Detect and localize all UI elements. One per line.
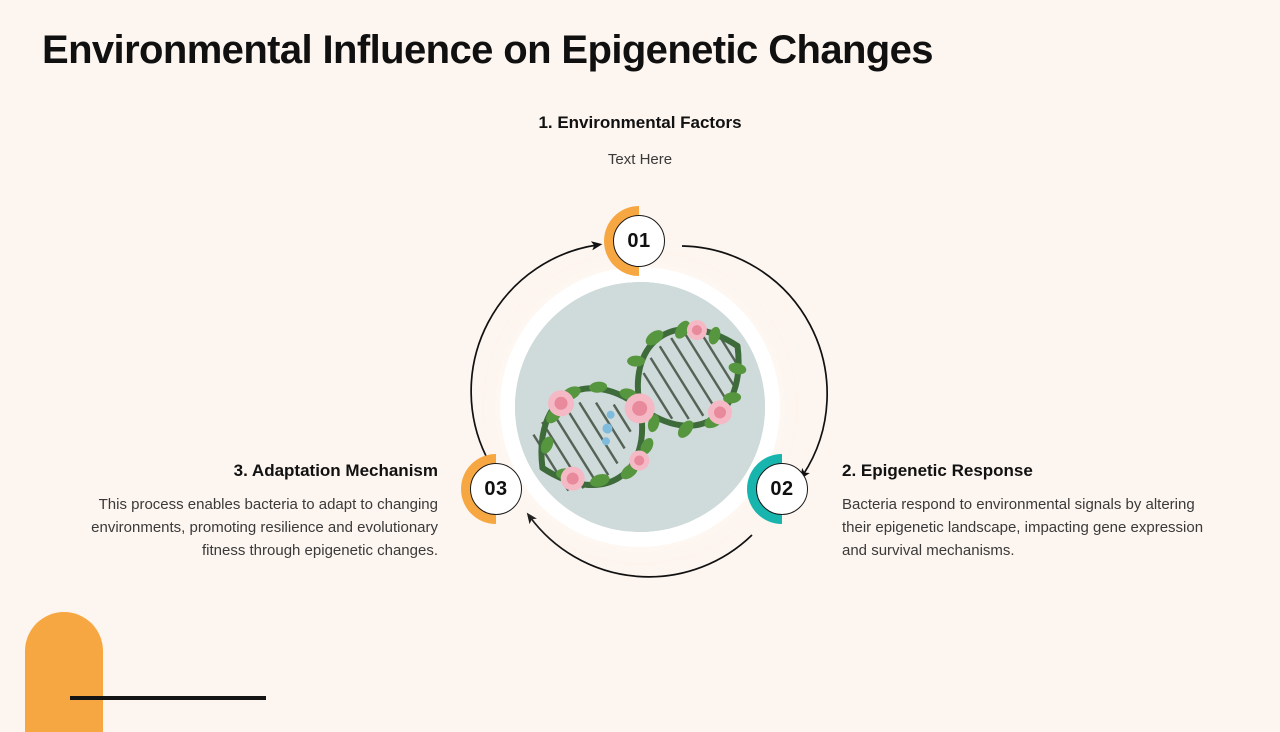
decorative-rule: [70, 696, 266, 700]
step-3-heading: 3. Adaptation Mechanism: [58, 460, 438, 482]
step-badge-01-number: 01: [613, 215, 665, 267]
step-1-text-block: 1. Environmental Factors Text Here: [440, 112, 840, 171]
cycle-diagram: 01 02 03: [440, 188, 840, 588]
step-2-text-block: 2. Epigenetic Response Bacteria respond …: [842, 460, 1222, 562]
step-2-heading: 2. Epigenetic Response: [842, 460, 1222, 482]
decorative-pill-shape: [25, 612, 103, 732]
step-badge-02[interactable]: 02: [756, 463, 808, 515]
dna-helix-illustration: [515, 282, 765, 532]
dna-helix-image: [515, 282, 765, 532]
step-2-body: Bacteria respond to environmental signal…: [842, 494, 1222, 562]
step-badge-03-number: 03: [470, 463, 522, 515]
page-title: Environmental Influence on Epigenetic Ch…: [42, 28, 933, 73]
step-3-text-block: 3. Adaptation Mechanism This process ena…: [58, 460, 438, 562]
step-1-heading: 1. Environmental Factors: [440, 112, 840, 133]
step-3-body: This process enables bacteria to adapt t…: [58, 494, 438, 562]
step-badge-02-number: 02: [756, 463, 808, 515]
step-1-body: Text Here: [440, 149, 840, 171]
step-badge-03[interactable]: 03: [470, 463, 522, 515]
step-badge-01[interactable]: 01: [613, 215, 665, 267]
